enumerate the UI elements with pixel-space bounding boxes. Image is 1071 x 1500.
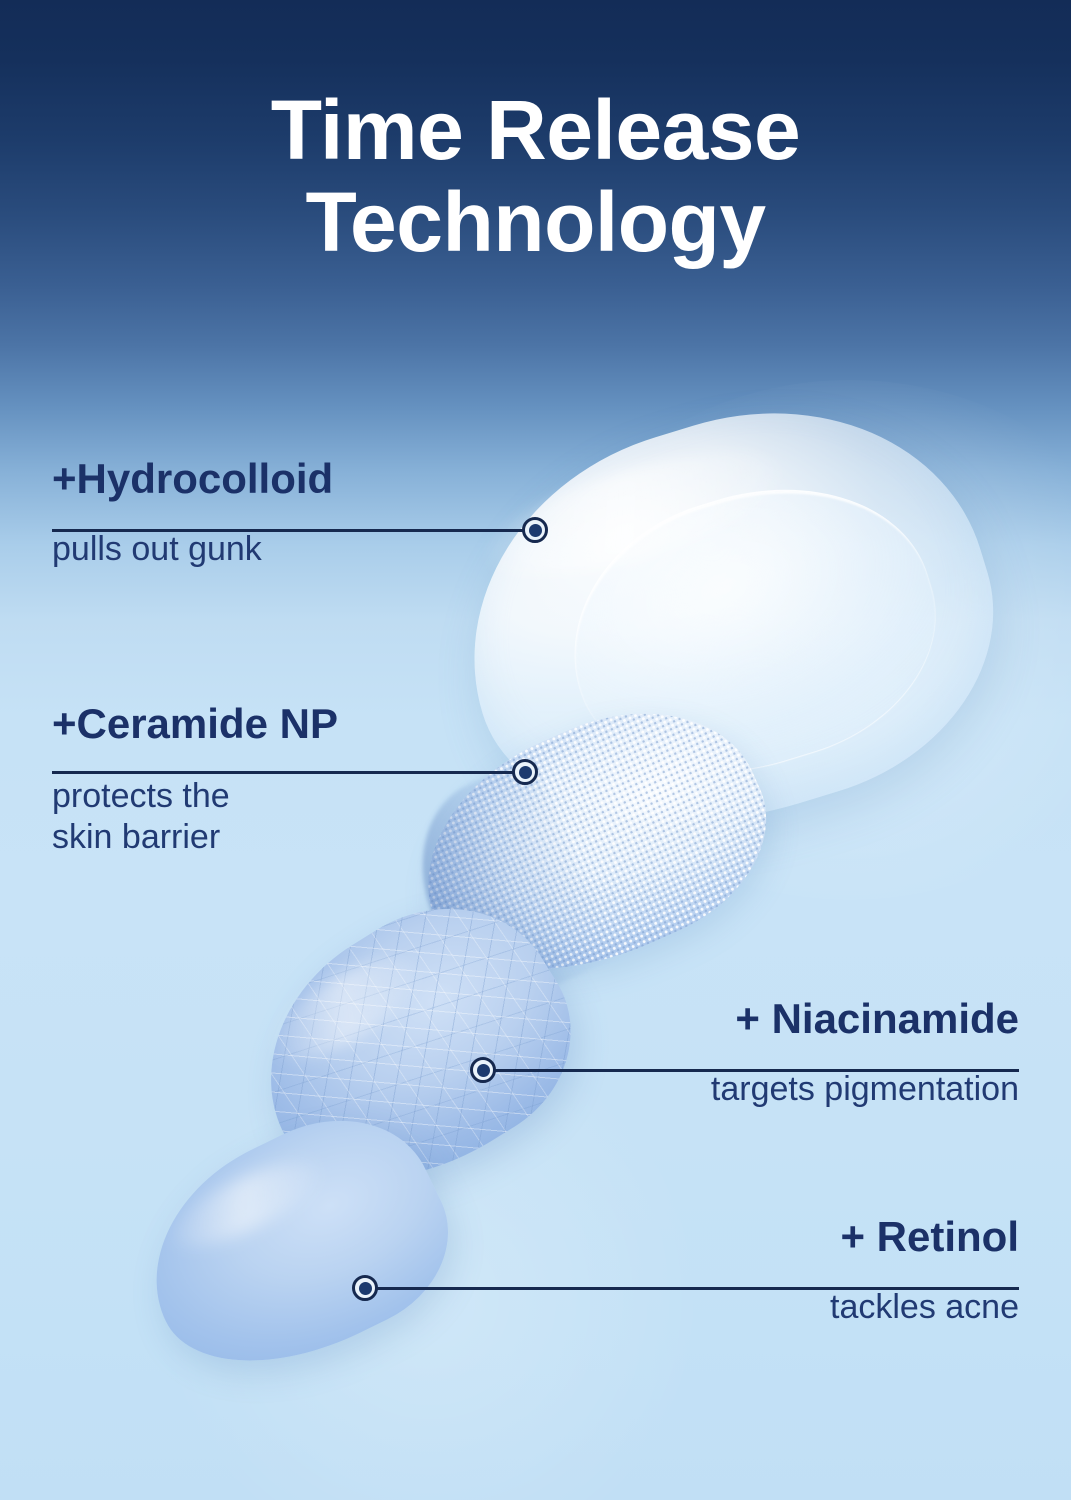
leader-hydrocolloid (52, 517, 548, 543)
title-line-2: Technology (0, 176, 1071, 268)
title-line-1: Time Release (0, 84, 1071, 176)
leader-retinol (352, 1275, 1019, 1301)
leader-line-retinol (372, 1287, 1019, 1290)
target-dot-icon (522, 517, 548, 543)
infographic-canvas: Time Release Technology +Hydrocolloid pu… (0, 0, 1071, 1500)
leader-niacinamide (470, 1057, 1019, 1083)
callout-retinol: + Retinol tackles acne (498, 1213, 1019, 1328)
leader-line-ceramide-np (52, 771, 520, 774)
leader-line-hydrocolloid (52, 529, 530, 532)
page-title: Time Release Technology (0, 84, 1071, 268)
callout-retinol-heading: + Retinol (498, 1213, 1019, 1261)
leader-ceramide-np (52, 759, 542, 785)
callout-ceramide-np-heading: +Ceramide NP (52, 700, 572, 748)
target-dot-icon (470, 1057, 496, 1083)
callout-ceramide-np-sub-line-2: skin barrier (52, 817, 572, 858)
leader-line-niacinamide (490, 1069, 1019, 1072)
target-dot-icon (512, 759, 538, 785)
callout-hydrocolloid-heading: +Hydrocolloid (52, 455, 572, 503)
callout-niacinamide-heading: + Niacinamide (498, 995, 1019, 1043)
callout-niacinamide: + Niacinamide targets pigmentation (498, 995, 1019, 1110)
target-dot-icon (352, 1275, 378, 1301)
callout-hydrocolloid: +Hydrocolloid pulls out gunk (52, 455, 572, 570)
